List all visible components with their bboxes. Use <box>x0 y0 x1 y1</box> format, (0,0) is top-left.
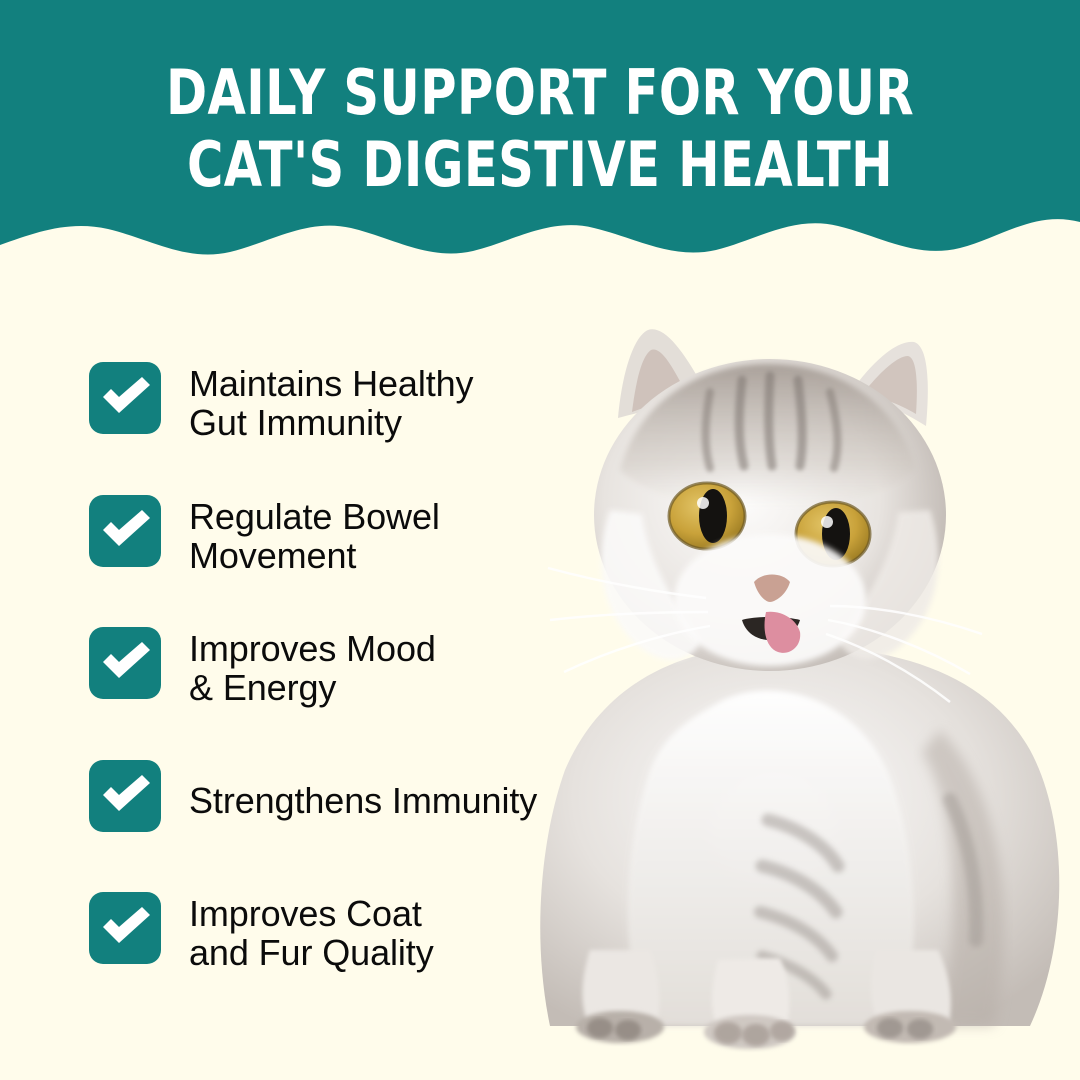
cat-body <box>540 645 1059 1026</box>
cat-forehead-stripes <box>706 376 838 468</box>
check-icon <box>89 892 161 964</box>
header-banner: Daily Support For Your Cat's Digestive H… <box>0 0 1080 270</box>
check-icon <box>89 760 161 832</box>
checkbox-checked-5[interactable] <box>89 892 161 964</box>
checkbox-checked-4[interactable] <box>89 760 161 832</box>
cat-muzzle <box>674 534 866 666</box>
cat-eye-left <box>669 483 745 549</box>
cat-head <box>594 359 946 671</box>
checkbox-checked-3[interactable] <box>89 627 161 699</box>
cat-illustration-svg <box>470 300 1080 1060</box>
cat-ears <box>618 329 928 426</box>
benefit-label-2: Regulate Bowel Movement <box>189 495 440 575</box>
benefit-item-3[interactable]: Improves Mood & Energy <box>89 627 559 760</box>
benefit-label-1: Maintains Healthy Gut Immunity <box>189 362 473 442</box>
poster-canvas: Daily Support For Your Cat's Digestive H… <box>0 0 1080 1080</box>
cat-tongue <box>765 612 801 653</box>
check-icon <box>89 627 161 699</box>
benefit-item-4[interactable]: Strengthens Immunity <box>89 760 559 893</box>
cat-body-stripes <box>760 800 976 994</box>
check-icon <box>89 362 161 434</box>
cat-mouth <box>742 617 800 640</box>
cat-photo <box>470 300 1080 1060</box>
checkbox-checked-1[interactable] <box>89 362 161 434</box>
checkbox-checked-2[interactable] <box>89 495 161 567</box>
page-title: Daily Support For Your Cat's Digestive H… <box>108 62 972 196</box>
benefit-label-3: Improves Mood & Energy <box>189 627 436 707</box>
cat-nose <box>754 575 790 603</box>
benefits-list: Maintains Healthy Gut Immunity Regulate … <box>89 362 559 1025</box>
benefit-item-2[interactable]: Regulate Bowel Movement <box>89 495 559 628</box>
benefit-label-5: Improves Coat and Fur Quality <box>189 892 434 972</box>
cat-whiskers <box>548 568 982 702</box>
page-title-line-1: Daily Support For Your <box>108 62 972 124</box>
benefit-item-5[interactable]: Improves Coat and Fur Quality <box>89 892 559 1025</box>
page-title-line-2: Cat's Digestive Health <box>108 134 972 196</box>
cat-paws <box>576 950 956 1049</box>
benefit-item-1[interactable]: Maintains Healthy Gut Immunity <box>89 362 559 495</box>
check-icon <box>89 495 161 567</box>
cat-eyes <box>669 483 870 566</box>
benefit-label-4: Strengthens Immunity <box>189 760 537 820</box>
cat-eye-right <box>796 502 870 566</box>
